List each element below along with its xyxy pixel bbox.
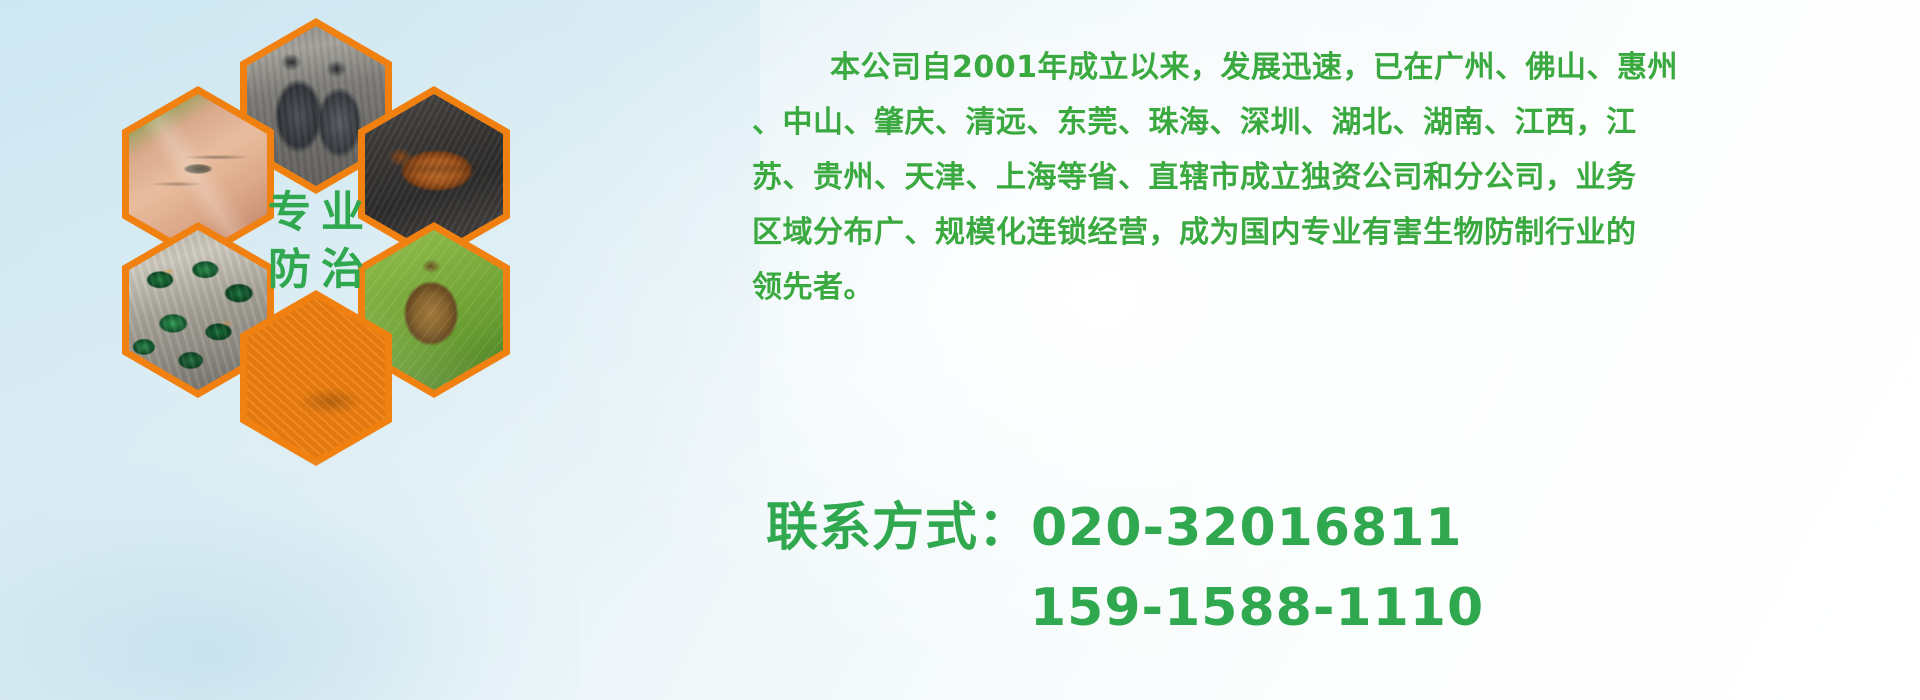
contact-block: 联系方式：020-32016811 159-1588-1110 bbox=[766, 488, 1866, 648]
slogan-line-1: 专业 bbox=[258, 192, 374, 235]
contact-phone-landline[interactable]: 联系方式：020-32016811 bbox=[766, 488, 1866, 568]
description-line-1: 本公司自2001年成立以来，发展迅速，已在广州、佛山、惠州 bbox=[752, 40, 1834, 95]
company-intro-banner: 专业 防治 本公司自2001年成立以来，发展迅速，已在广州、佛山、惠州 、中山、… bbox=[0, 0, 1920, 700]
description-line-2: 、中山、肇庆、清远、东莞、珠海、深圳、湖北、湖南、江西，江 bbox=[752, 95, 1834, 150]
contact-phone-mobile[interactable]: 159-1588-1110 bbox=[766, 568, 1866, 648]
description-line-4: 区域分布广、规模化连锁经营，成为国内专业有害生物防制行业的 bbox=[752, 205, 1834, 260]
slogan-line-2: 防治 bbox=[258, 249, 374, 292]
description-line-5: 领先者。 bbox=[752, 260, 1834, 315]
company-description: 本公司自2001年成立以来，发展迅速，已在广州、佛山、惠州 、中山、肇庆、清远、… bbox=[752, 40, 1834, 315]
slogan-hexagon: 专业 防治 bbox=[240, 154, 392, 330]
hexagon-photo-collage: 专业 防治 bbox=[88, 8, 588, 568]
description-line-3: 苏、贵州、天津、上海等省、直辖市成立独资公司和分公司，业务 bbox=[752, 150, 1834, 205]
